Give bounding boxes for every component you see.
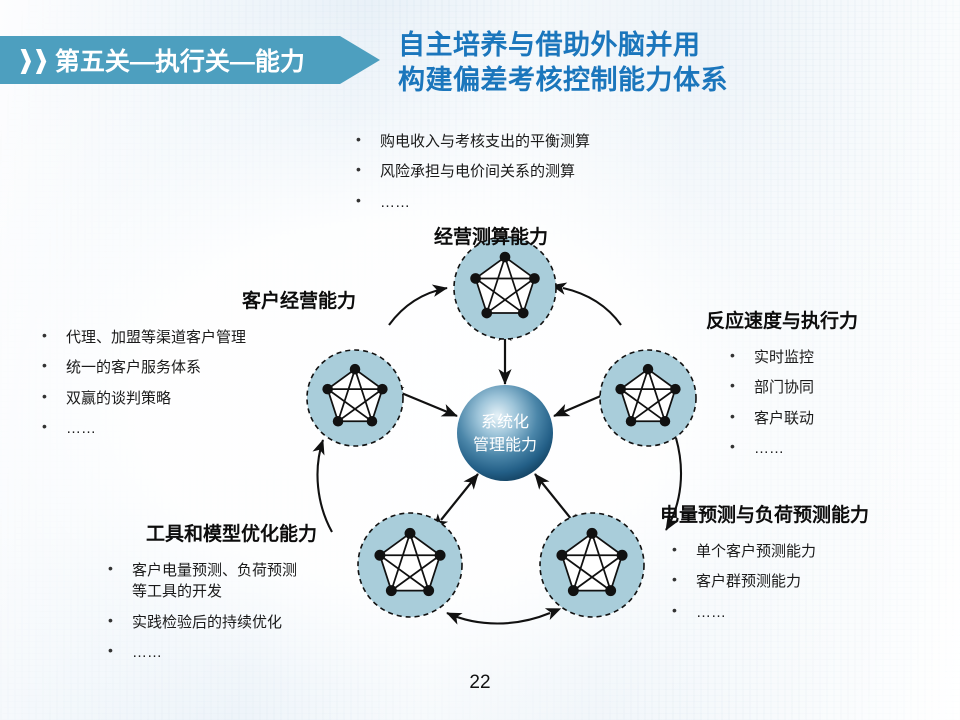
list-item: …… [726, 438, 956, 459]
spoke-tools [441, 474, 478, 520]
group-tools-capability: 工具和模型优化能力 客户电量预测、负荷预测 等工具的开发 实践检验后的持续优化 … [104, 519, 394, 672]
ring-arrow-business-to-response [563, 288, 621, 325]
group-title: 电量预测与负荷预测能力 [660, 500, 955, 527]
slide-canvas: ❱❱ 第五关—执行关—能力 自主培养与借助外脑并用 构建偏差考核控制能力体系 [0, 0, 960, 720]
list-item: 统一的客户服务体系 [38, 357, 368, 378]
list-item: 部门协同 [726, 377, 956, 398]
page-number: 22 [0, 672, 960, 694]
core-label-line2: 管理能力 [473, 436, 537, 454]
core-sphere[interactable]: 系统化 管理能力 [457, 385, 553, 481]
ring-arrow-customer-to-business [389, 288, 447, 325]
group-title: 工具和模型优化能力 [146, 519, 394, 546]
list-item: …… [38, 418, 368, 439]
group-business-capability: 购电收入与考核支出的平衡测算 风险承担与电价间关系的测算 …… 经营测算能力 [352, 131, 590, 255]
group-title: 客户经营能力 [38, 286, 356, 313]
list-item: 代理、加盟等渠道客户管理 [38, 327, 368, 348]
bullet-list: 单个客户预测能力 客户群预测能力 …… [668, 541, 955, 623]
list-item: 购电收入与考核支出的平衡测算 [352, 131, 590, 152]
list-item: …… [104, 642, 394, 663]
bullet-list: 代理、加盟等渠道客户管理 统一的客户服务体系 双赢的谈判策略 …… [38, 327, 368, 439]
list-item: 风险承担与电价间关系的测算 [352, 161, 590, 182]
group-response-capability: 反应速度与执行力 实时监控 部门协同 客户联动 …… [706, 306, 956, 468]
list-item: 实践检验后的持续优化 [104, 612, 394, 633]
spoke-forecast [535, 474, 572, 520]
list-item: 客户电量预测、负荷预测 等工具的开发 [104, 560, 394, 603]
core-label-line1: 系统化 [481, 413, 529, 431]
bullet-list: 购电收入与考核支出的平衡测算 风险承担与电价间关系的测算 …… [352, 131, 590, 213]
list-item: 实时监控 [726, 347, 956, 368]
list-item: …… [668, 602, 955, 623]
group-customer-capability: 客户经营能力 代理、加盟等渠道客户管理 统一的客户服务体系 双赢的谈判策略 …… [38, 286, 368, 448]
bullet-list: 实时监控 部门协同 客户联动 …… [726, 347, 956, 459]
group-title: 反应速度与执行力 [706, 306, 956, 333]
ring-arrow-forecast-to-tools [447, 613, 550, 624]
bullet-list: 客户电量预测、负荷预测 等工具的开发 实践检验后的持续优化 …… [104, 560, 394, 663]
list-item: 单个客户预测能力 [668, 541, 955, 562]
core-sphere-circle [457, 385, 553, 481]
node-response-capability[interactable] [600, 350, 696, 446]
node-forecast-capability[interactable] [540, 513, 644, 617]
list-item: …… [352, 192, 590, 213]
list-item: 客户群预测能力 [668, 571, 955, 592]
group-forecast-capability: 电量预测与负荷预测能力 单个客户预测能力 客户群预测能力 …… [660, 500, 955, 632]
list-item: 客户联动 [726, 408, 956, 429]
group-title: 经营测算能力 [434, 222, 590, 249]
spoke-customer [399, 392, 457, 416]
list-item: 双赢的谈判策略 [38, 388, 368, 409]
